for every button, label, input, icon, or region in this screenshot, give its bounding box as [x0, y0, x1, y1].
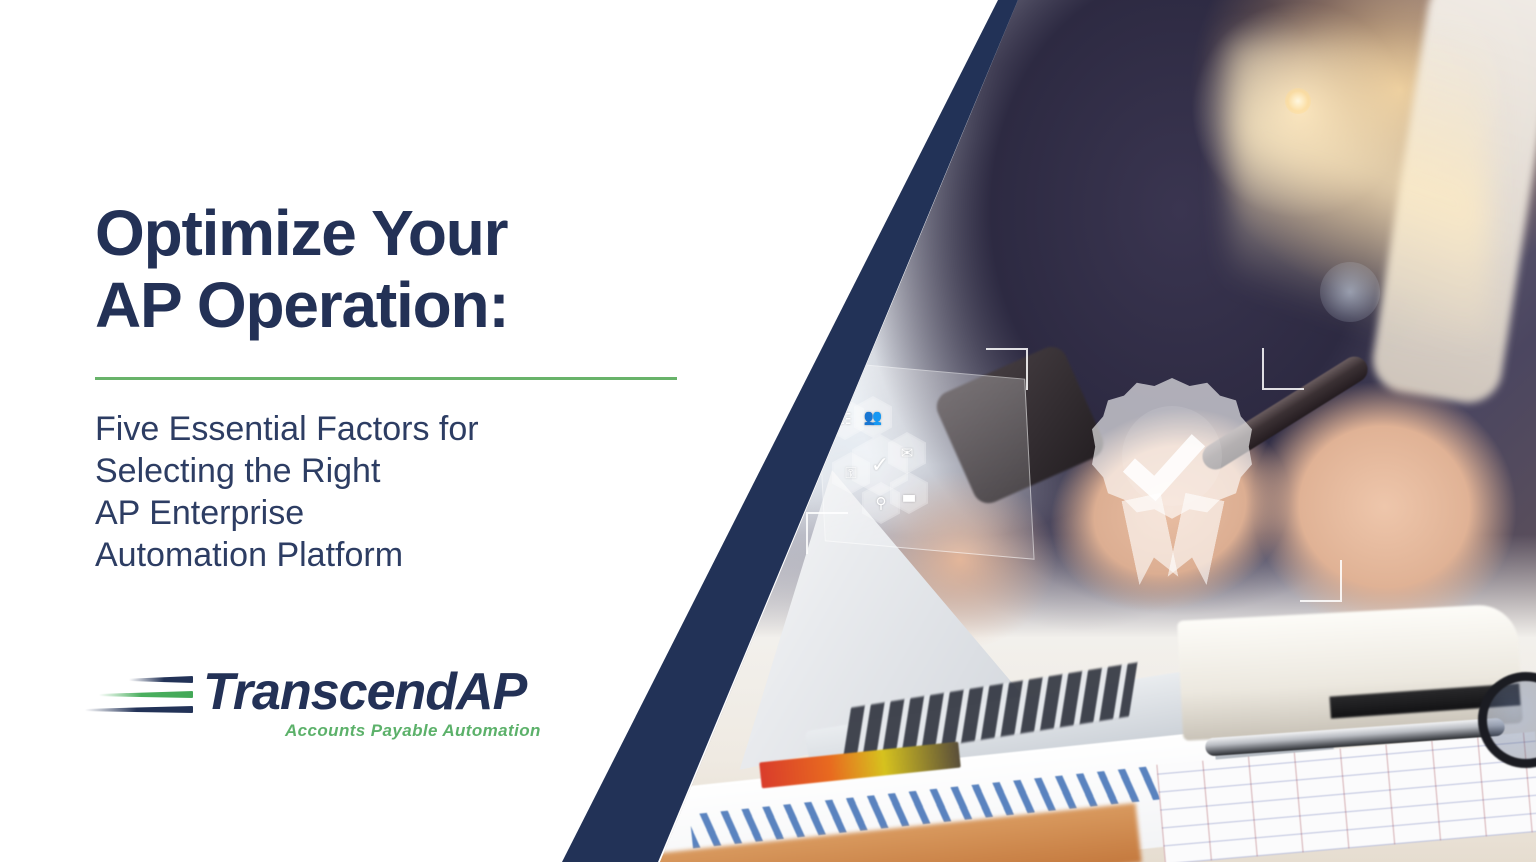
subtitle-line-3: AP Enterprise	[95, 492, 655, 534]
award-seal-icon	[1092, 378, 1252, 538]
logo-wordmark: TranscendAP	[203, 662, 526, 722]
transcendap-logo: TranscendAP Accounts Payable Automation	[85, 668, 605, 758]
speed-line-bottom	[85, 706, 193, 713]
hud-corner-bracket	[986, 348, 1028, 390]
subtitle: Five Essential Factors for Selecting the…	[95, 408, 655, 577]
hud-corner-bracket	[1262, 348, 1304, 390]
page-title: Optimize Your AP Operation:	[95, 198, 695, 341]
headline-line-1: Optimize Your	[95, 198, 695, 270]
logo-tagline: Accounts Payable Automation	[285, 721, 541, 741]
headline-line-2: AP Operation:	[95, 270, 695, 342]
bokeh-circle	[1320, 262, 1380, 322]
people-glyph: 👥	[864, 410, 883, 425]
speed-line-middle	[99, 691, 193, 698]
search-glyph: ⚲	[876, 496, 887, 511]
green-divider	[95, 377, 677, 380]
hud-corner-bracket	[1300, 560, 1342, 602]
envelope-glyph: ✉	[901, 446, 914, 461]
speed-line-top	[129, 676, 193, 683]
subtitle-line-2: Selecting the Right	[95, 450, 655, 492]
lock-glyph: ⚿	[845, 466, 856, 481]
hud-corner-bracket	[806, 512, 848, 554]
lens-flare-dot	[1285, 88, 1311, 114]
shield-check-glyph: ✓	[871, 454, 889, 476]
content-column: Optimize Your AP Operation: Five Essenti…	[95, 0, 715, 862]
bar-chart-glyph: ▃	[903, 486, 915, 501]
promo-banner: ☷ 👥 ✓ ✉ ⚿ ▃ ⚲ Opti	[0, 0, 1536, 862]
subtitle-line-4: Automation Platform	[95, 534, 655, 576]
subtitle-line-1: Five Essential Factors for	[95, 408, 655, 450]
speed-lines-icon	[85, 674, 193, 720]
